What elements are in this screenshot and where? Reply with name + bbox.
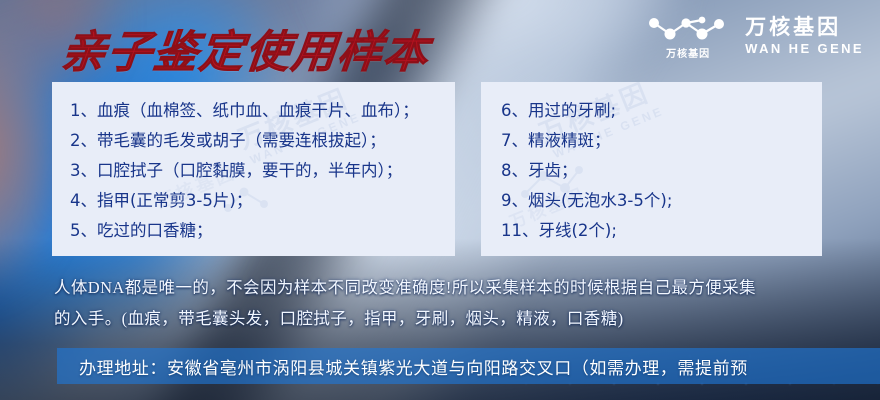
page-title: 亲子鉴定使用样本 (59, 16, 434, 80)
list-item: 6、用过的牙刷; (501, 96, 822, 126)
list-item: 1、血痕（血棉签、纸巾血、血痕干片、血布）； (70, 96, 455, 126)
logo-mark-label: 万核基因 (645, 45, 731, 60)
list-item: 4、指甲(正常剪3-5片)； (70, 186, 455, 216)
brand-logo: 万核基因 万核基因 WAN HE GENE (645, 14, 864, 58)
sample-list-panel-right: 万核基因 WAN HE GENE 万核基因 6、用过的牙刷; 7、精液精斑； 8… (481, 82, 822, 256)
address-text: 办理地址：安徽省亳州市涡阳县城关镇紫光大道与向阳路交叉口（如需办理，需提前预 (57, 354, 748, 379)
list-item: 7、精液精斑； (501, 126, 822, 156)
sample-list-left: 1、血痕（血棉签、纸巾血、血痕干片、血布）； 2、带毛囊的毛发或胡子（需要连根拔… (52, 82, 455, 246)
poster-canvas: 亲子鉴定使用样本 万核 (0, 0, 880, 400)
brand-name-cn: 万核基因 (745, 17, 864, 39)
list-item: 3、口腔拭子（口腔黏膜，要干的，半年内）； (70, 156, 455, 186)
list-item: 2、带毛囊的毛发或胡子（需要连根拔起）； (70, 126, 455, 156)
list-item: 5、吃过的口香糖； (70, 216, 455, 246)
note-paragraph: 人体DNA都是唯一的，不会因为样本不同改变准确度!所以采集样本的时候根据自己最方… (54, 272, 854, 334)
brand-wordmark: 万核基因 WAN HE GENE (745, 17, 864, 56)
molecule-icon: 万核基因 (645, 14, 731, 58)
note-line-1: 人体DNA都是唯一的，不会因为样本不同改变准确度!所以采集样本的时候根据自己最方… (54, 272, 854, 303)
sample-list-panel-left: 万核基因 WAN HE GENE 万核基因 1、血痕（血棉签、纸巾血、血痕干片、… (52, 82, 455, 256)
address-bar: 办理地址：安徽省亳州市涡阳县城关镇紫光大道与向阳路交叉口（如需办理，需提前预 (57, 348, 880, 384)
note-line-2: 的入手。(血痕，带毛囊头发，口腔拭子，指甲，牙刷，烟头，精液，口香糖) (54, 303, 854, 334)
sample-list-right: 6、用过的牙刷; 7、精液精斑； 8、牙齿； 9、烟头(无泡水3-5个); 11… (481, 82, 822, 246)
list-item: 11、牙线(2个); (501, 216, 822, 246)
brand-name-en: WAN HE GENE (745, 42, 864, 56)
list-item: 8、牙齿； (501, 156, 822, 186)
list-item: 9、烟头(无泡水3-5个); (501, 186, 822, 216)
